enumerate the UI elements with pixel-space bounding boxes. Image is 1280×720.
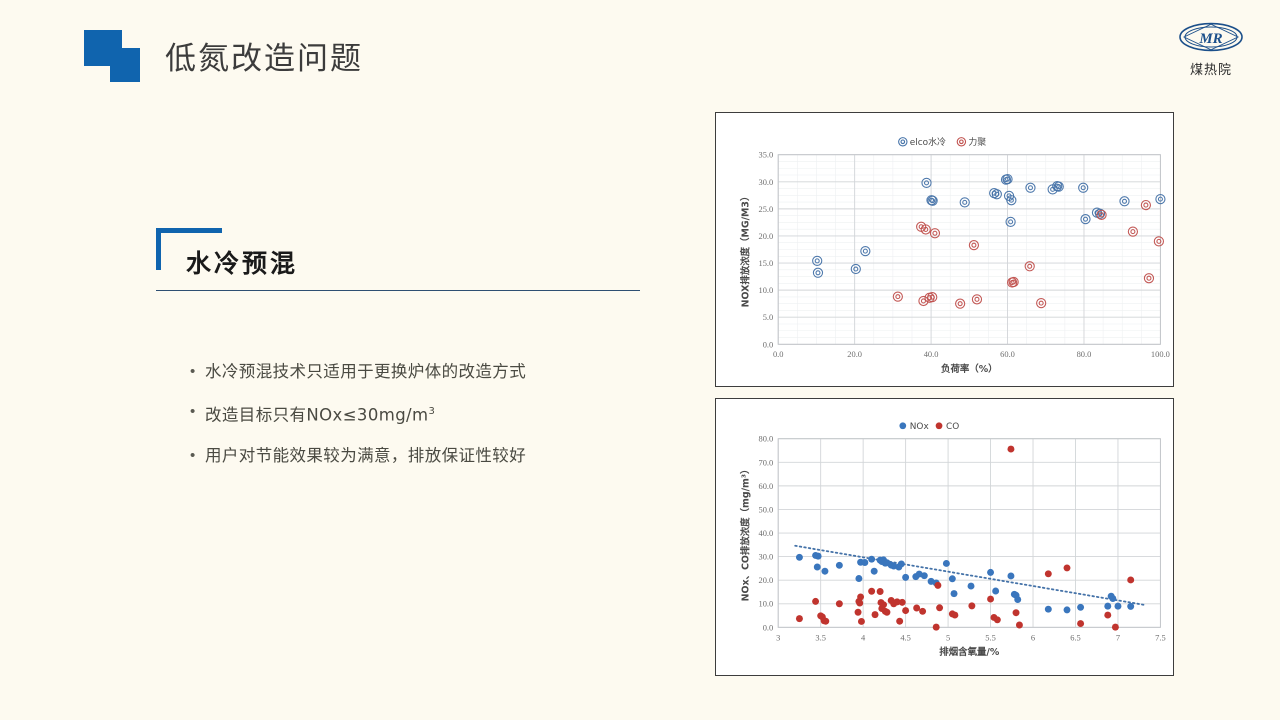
- svg-text:0.0: 0.0: [763, 339, 774, 349]
- svg-text:25.0: 25.0: [759, 204, 774, 214]
- bullet-list: • 水冷预混技术只适用于更换炉体的改造方式 • 改造目标只有NOx≤30mg/m…: [190, 360, 660, 484]
- svg-text:力聚: 力聚: [968, 136, 986, 148]
- bullet-text-main: 改造目标只有NOx≤30mg/m: [205, 406, 429, 425]
- svg-text:10.0: 10.0: [758, 599, 773, 609]
- svg-text:5: 5: [946, 632, 950, 642]
- svg-text:NOx: NOx: [910, 422, 929, 432]
- svg-text:0.0: 0.0: [763, 622, 774, 632]
- chart-panel-nox-co-vs-o2: 33.544.555.566.577.50.010.020.030.040.05…: [715, 398, 1174, 676]
- svg-text:20.0: 20.0: [758, 575, 773, 585]
- svg-text:80.0: 80.0: [1077, 349, 1092, 359]
- slide-root: 低氮改造问题 MR 煤热院 水冷预混 • 水冷预混技术只适用于更换炉体的改造方式…: [0, 0, 1280, 720]
- svg-text:排烟含氧量/%: 排烟含氧量/%: [939, 646, 1000, 658]
- svg-text:40.0: 40.0: [758, 528, 773, 538]
- svg-text:负荷率（%）: 负荷率（%）: [941, 363, 998, 375]
- bullet-text: 用户对节能效果较为满意，排放保证性较好: [205, 444, 526, 467]
- chart-panel-nox-vs-load: 0.020.040.060.080.0100.00.05.010.015.020…: [715, 112, 1174, 387]
- svg-text:5.5: 5.5: [985, 632, 996, 642]
- svg-text:60.0: 60.0: [1000, 349, 1015, 359]
- svg-text:6: 6: [1031, 632, 1035, 642]
- section-divider: [156, 290, 640, 291]
- page-title: 低氮改造问题: [165, 33, 363, 78]
- list-item: • 水冷预混技术只适用于更换炉体的改造方式: [190, 360, 660, 383]
- svg-text:7.5: 7.5: [1155, 632, 1166, 642]
- header-brand-mark: [84, 30, 140, 82]
- svg-text:70.0: 70.0: [758, 457, 773, 467]
- svg-text:50.0: 50.0: [758, 504, 773, 514]
- scatter-chart-nox-co-vs-o2: 33.544.555.566.577.50.010.020.030.040.05…: [716, 399, 1173, 675]
- svg-text:60.0: 60.0: [758, 481, 773, 491]
- company-name: 煤热院: [1175, 59, 1247, 78]
- svg-text:7: 7: [1116, 632, 1120, 642]
- logo-oval-icon: MR: [1178, 22, 1244, 52]
- bullet-marker: •: [190, 400, 205, 423]
- svg-text:10.0: 10.0: [759, 285, 774, 295]
- svg-text:80.0: 80.0: [758, 434, 773, 444]
- company-logo: MR 煤热院: [1175, 22, 1247, 84]
- svg-text:30.0: 30.0: [758, 552, 773, 562]
- svg-text:4.5: 4.5: [900, 632, 911, 642]
- svg-text:15.0: 15.0: [759, 258, 774, 268]
- svg-text:5.0: 5.0: [763, 312, 774, 322]
- bullet-marker: •: [190, 444, 205, 467]
- list-item: • 改造目标只有NOx≤30mg/m3: [190, 400, 660, 427]
- svg-text:NOx、CO排放浓度（mg/m³）: NOx、CO排放浓度（mg/m³）: [739, 465, 751, 602]
- list-item: • 用户对节能效果较为满意，排放保证性较好: [190, 444, 660, 467]
- bullet-text: 改造目标只有NOx≤30mg/m3: [205, 400, 435, 427]
- svg-text:CO: CO: [946, 422, 959, 432]
- svg-text:3: 3: [776, 632, 780, 642]
- svg-text:20.0: 20.0: [847, 349, 862, 359]
- svg-text:elco水冷: elco水冷: [910, 136, 946, 148]
- bullet-text-superscript: 3: [429, 406, 436, 417]
- bullet-marker: •: [190, 360, 205, 383]
- svg-text:0.0: 0.0: [773, 349, 784, 359]
- scatter-chart-nox-vs-load: 0.020.040.060.080.0100.00.05.010.015.020…: [716, 113, 1173, 386]
- svg-text:40.0: 40.0: [924, 349, 939, 359]
- svg-text:30.0: 30.0: [759, 177, 774, 187]
- svg-text:20.0: 20.0: [759, 231, 774, 241]
- svg-text:100.0: 100.0: [1151, 349, 1170, 359]
- bullet-text: 水冷预混技术只适用于更换炉体的改造方式: [205, 360, 526, 383]
- brand-square-lower: [110, 48, 140, 82]
- svg-text:6.5: 6.5: [1070, 632, 1081, 642]
- svg-text:NOX排放浓度（MG/M3）: NOX排放浓度（MG/M3）: [739, 192, 751, 308]
- svg-text:3.5: 3.5: [815, 632, 826, 642]
- section-title: 水冷预混: [186, 244, 298, 280]
- svg-text:MR: MR: [1198, 31, 1222, 47]
- svg-text:4: 4: [861, 632, 866, 642]
- svg-text:35.0: 35.0: [759, 150, 774, 160]
